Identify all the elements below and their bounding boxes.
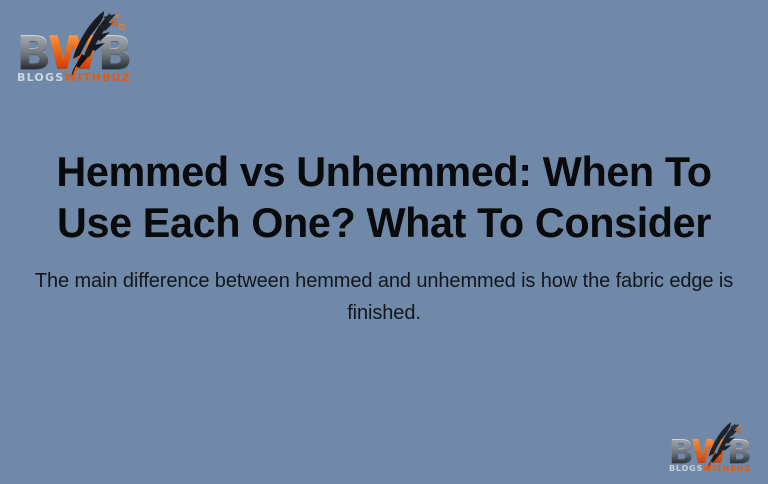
featured-image-canvas: BWB (0, 0, 768, 484)
page-subtitle: The main difference between hemmed and u… (24, 265, 744, 329)
brand-logo-watermark: BWB BLOGS (663, 420, 757, 478)
brand-logo-watermark-inner: BWB BLOGS (663, 420, 757, 478)
brand-tagline-watermark: BLOGSWITHBUZ (663, 465, 757, 473)
brand-tagline-part-1-watermark: BLOGS (669, 464, 703, 473)
page-title: Hemmed vs Unhemmed: When To Use Each One… (14, 146, 755, 248)
brand-tagline-part-2-watermark: WITHBUZ (703, 464, 751, 473)
text-block: Hemmed vs Unhemmed: When To Use Each One… (0, 0, 768, 484)
